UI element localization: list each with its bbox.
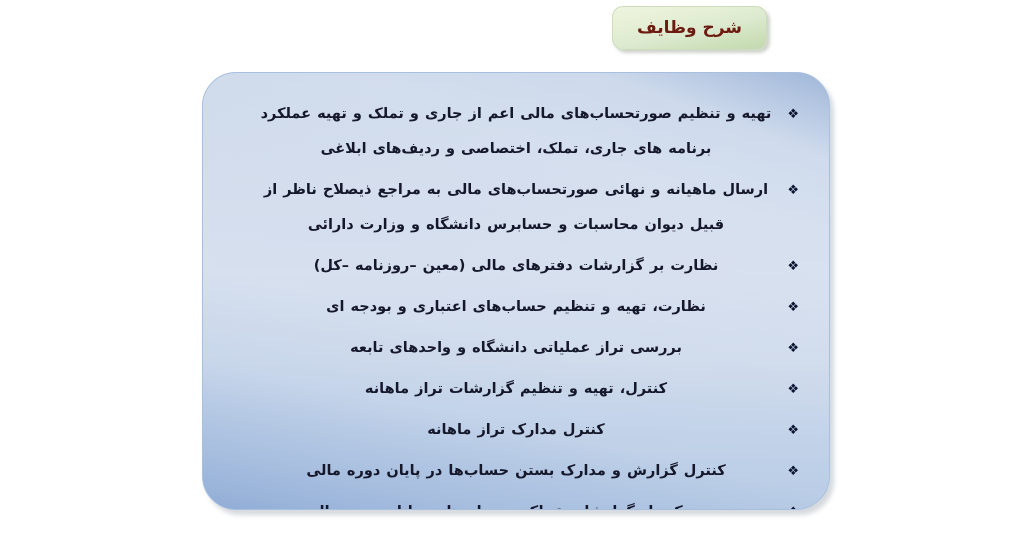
duty-text: کنترل، تهیه و تنظیم گزارشات تراز ماهانه bbox=[365, 381, 667, 397]
diamond-cluster-icon: ❖ bbox=[787, 290, 799, 325]
duty-text: ارسال ماهیانه و نهائی صورتحساب‌های مالی … bbox=[264, 182, 768, 233]
list-item: ❖ارسال ماهیانه و نهائی صورتحساب‌های مالی… bbox=[233, 173, 799, 243]
duty-text: بررسی تراز عملیاتی دانشگاه و واحدهای تاب… bbox=[350, 340, 682, 356]
list-item: ❖نظارت بر گزارشات دفترهای مالی (معین –رو… bbox=[233, 249, 799, 284]
duty-text: نظارت، تهیه و تنظیم حساب‌های اعتباری و ب… bbox=[326, 299, 706, 315]
duty-text: تهیه و تنظیم صورتحساب‌های مالی اعم از جا… bbox=[261, 106, 772, 157]
diamond-cluster-icon: ❖ bbox=[787, 454, 799, 489]
list-item: ❖کنترل گزارش و مدارک بستن حساب‌ها در پای… bbox=[233, 454, 799, 489]
diamond-cluster-icon: ❖ bbox=[787, 97, 799, 132]
duties-list: ❖تهیه و تنظیم صورتحساب‌های مالی اعم از ج… bbox=[203, 73, 829, 510]
list-item: ❖بررسی تراز عملیاتی دانشگاه و واحدهای تا… bbox=[233, 331, 799, 366]
list-item: ❖تهیه و تنظیم صورتحساب‌های مالی اعم از ج… bbox=[233, 97, 799, 167]
list-item: ❖تهیه وکنترل گزارشات عملکرد حساب‌ها در پ… bbox=[233, 495, 799, 510]
diamond-cluster-icon: ❖ bbox=[787, 173, 799, 208]
diamond-cluster-icon: ❖ bbox=[787, 413, 799, 448]
diamond-cluster-icon: ❖ bbox=[787, 331, 799, 366]
duty-text: نظارت بر گزارشات دفترهای مالی (معین –روز… bbox=[314, 258, 719, 274]
duties-panel: ❖تهیه و تنظیم صورتحساب‌های مالی اعم از ج… bbox=[202, 72, 830, 510]
diamond-cluster-icon: ❖ bbox=[787, 249, 799, 284]
list-item: ❖نظارت، تهیه و تنظیم حساب‌های اعتباری و … bbox=[233, 290, 799, 325]
page-title: شرح وظایف bbox=[637, 20, 742, 37]
duty-text: کنترل گزارش و مدارک بستن حساب‌ها در پایا… bbox=[306, 463, 725, 479]
diamond-cluster-icon: ❖ bbox=[787, 372, 799, 407]
duty-text: کنترل مدارک تراز ماهانه bbox=[427, 422, 604, 438]
list-item: ❖کنترل مدارک تراز ماهانه bbox=[233, 413, 799, 448]
duty-text: تهیه وکنترل گزارشات عملکرد حساب‌ها در پا… bbox=[304, 504, 727, 510]
diamond-cluster-icon: ❖ bbox=[787, 495, 799, 510]
list-item: ❖کنترل، تهیه و تنظیم گزارشات تراز ماهانه bbox=[233, 372, 799, 407]
page-title-plaque: شرح وظایف bbox=[612, 6, 767, 50]
